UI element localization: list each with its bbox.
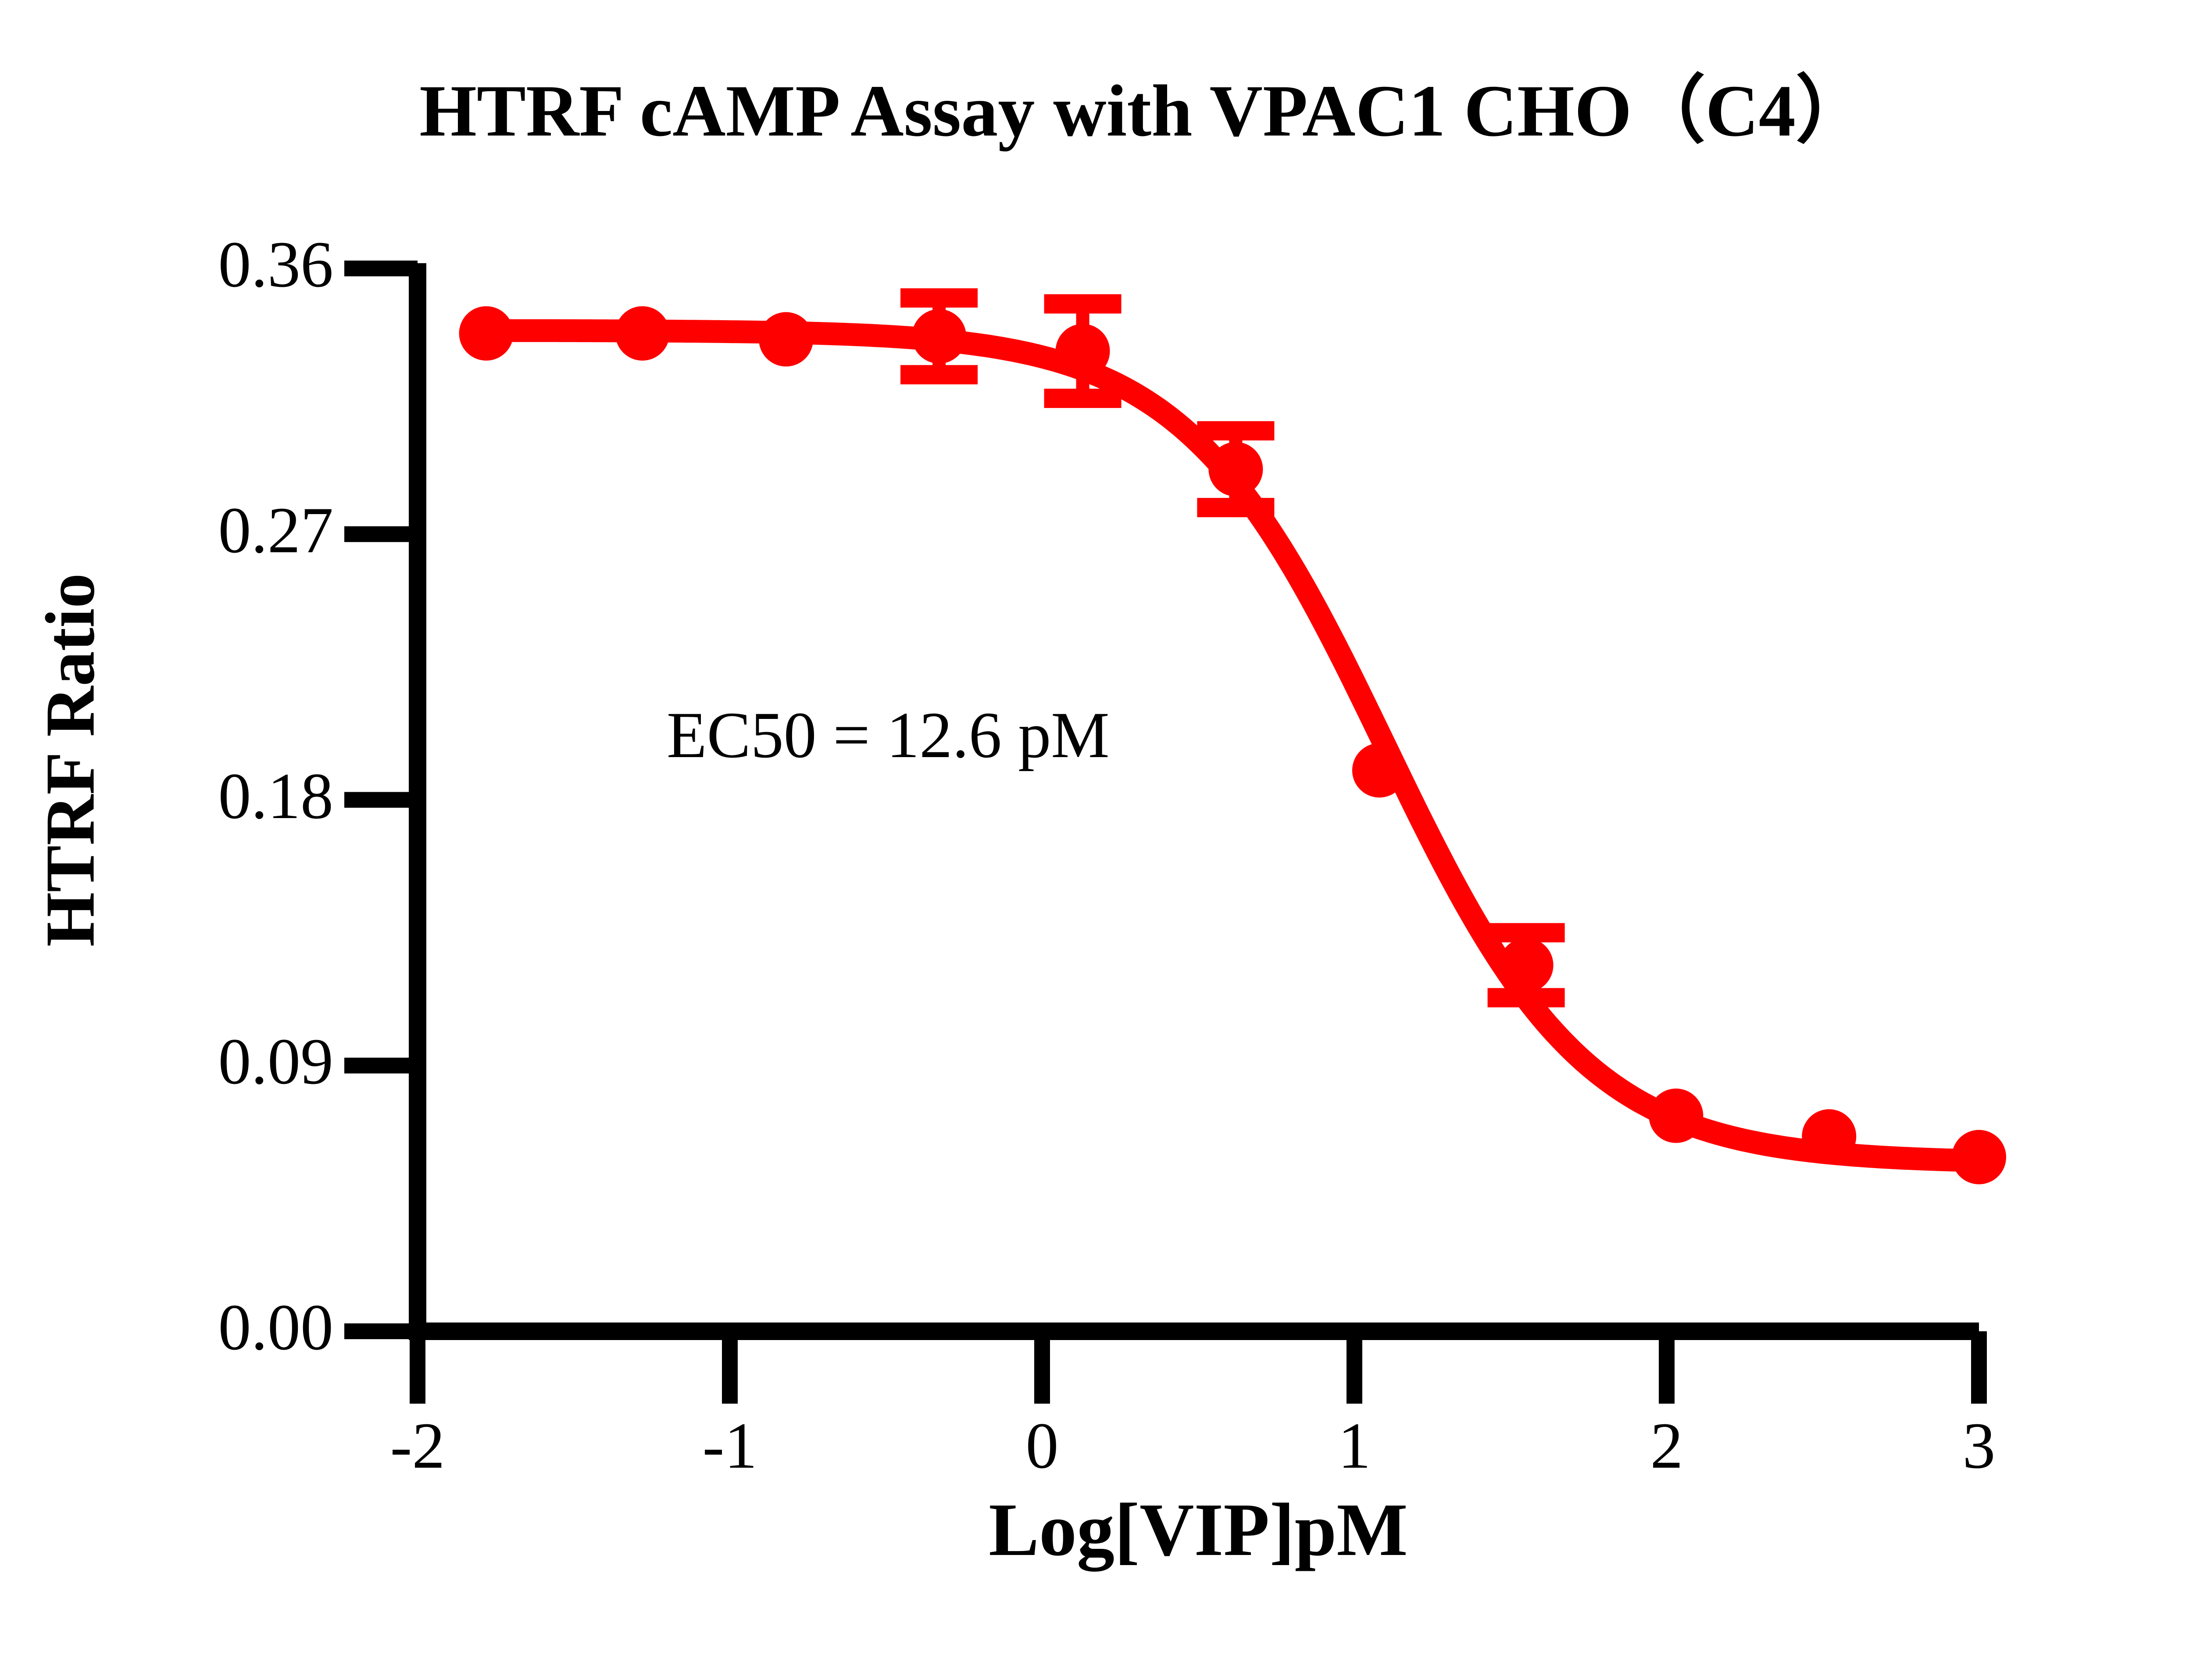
data-point-marker — [1802, 1109, 1856, 1164]
y-tick-marks — [344, 268, 418, 1331]
data-point-marker — [1352, 743, 1407, 797]
x-tick-label: 3 — [1891, 1408, 2067, 1483]
data-point-marker — [759, 312, 813, 367]
x-tick-marks — [418, 1331, 1979, 1404]
x-tick-label: 2 — [1579, 1408, 1754, 1483]
data-point-marker — [1208, 442, 1263, 497]
data-point-marker — [1499, 938, 1554, 992]
data-point-marker — [615, 306, 670, 361]
y-tick-label: 0.09 — [0, 1024, 333, 1099]
y-tick-label: 0.00 — [0, 1290, 333, 1365]
y-tick-label: 0.36 — [0, 227, 333, 302]
y-tick-label: 0.18 — [0, 758, 333, 834]
figure-canvas: HTRF cAMP Assay with VPAC1 CHO（C4） HTRF … — [0, 0, 2193, 1680]
data-point-marker — [1952, 1130, 2006, 1184]
data-point-marker — [912, 309, 966, 364]
data-point-marker — [1056, 324, 1110, 378]
x-tick-label: 1 — [1267, 1408, 1442, 1483]
x-tick-label: 0 — [954, 1408, 1130, 1483]
x-tick-label: -2 — [330, 1408, 505, 1483]
data-point-marker — [1649, 1089, 1703, 1143]
y-tick-label: 0.27 — [0, 493, 333, 568]
data-point-marker — [459, 306, 514, 361]
x-tick-label: -1 — [642, 1408, 818, 1483]
